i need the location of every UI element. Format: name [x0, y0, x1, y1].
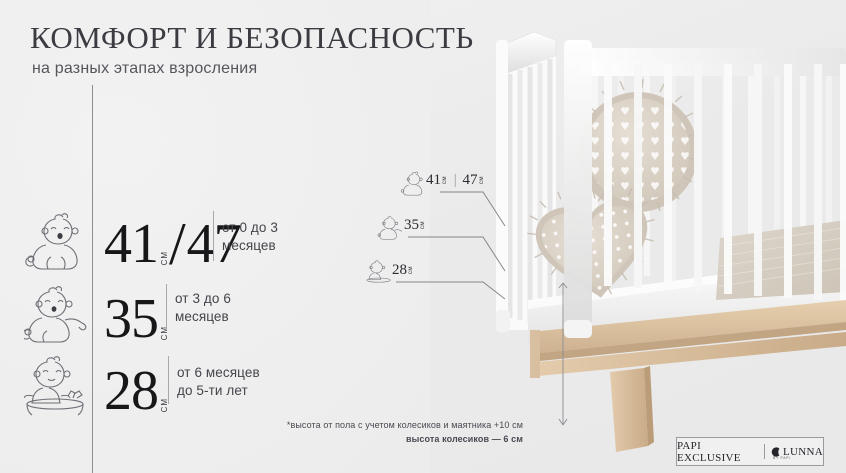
logo-brand-sub: BY PAPI: [773, 456, 791, 460]
callout-divider: |: [454, 172, 457, 188]
callout-unit-b: см: [479, 176, 485, 184]
spec-unit-a: см: [160, 251, 169, 265]
footnote-line1: *высота от пола с учетом колесиков и мая…: [223, 419, 523, 433]
callout-unit-a: см: [442, 176, 448, 184]
floor-height-dimension-line: [556, 282, 570, 432]
spec-description: от 3 до 6 месяцев: [175, 290, 275, 326]
row-separator: [213, 211, 214, 261]
spec-row: 41 см / 47 от 0 до 3 месяцев: [0, 205, 300, 280]
spec-desc-line2: до 5-ти лет: [177, 382, 297, 400]
callout-value-a: 28: [392, 262, 407, 278]
callout-text: 28см: [392, 262, 414, 279]
logo-divider: [764, 444, 765, 459]
spec-value: 28 см: [104, 352, 169, 418]
spec-slash: /: [169, 217, 186, 271]
spec-desc-line1: от 6 месяцев: [177, 364, 297, 382]
spec-row: 28 см от 6 месяцев до 5-ти лет: [0, 352, 300, 427]
logo-papi-exclusive: PAPI EXCLUSIVE: [677, 440, 758, 464]
spec-desc-line1: от 0 до 3: [222, 219, 314, 237]
row-separator: [168, 356, 169, 404]
spec-desc-line2: месяцев: [222, 237, 314, 255]
callout-unit-a: см: [408, 266, 414, 274]
baby-sitting-icon: [364, 260, 394, 286]
spec-desc-line1: от 3 до 6: [175, 290, 275, 308]
callout-text: 41см | 47см: [426, 172, 485, 189]
infographic-canvas: КОМФОРТ И БЕЗОПАСНОСТЬ на разных этапах …: [0, 0, 846, 473]
spec-value: 41 см / 47: [104, 205, 241, 271]
page-title: КОМФОРТ И БЕЗОПАСНОСТЬ: [30, 22, 460, 55]
spec-unit-a: см: [160, 326, 169, 340]
callout-unit-a: см: [420, 221, 426, 229]
brand-logo[interactable]: PAPI EXCLUSIVE LUNNA BY PAPI: [676, 437, 824, 466]
callout-value-a: 35: [404, 217, 419, 233]
spec-row: 35 см от 3 до 6 месяцев: [0, 280, 300, 352]
page-subtitle: на разных этапах взросления: [32, 60, 460, 78]
spec-desc-line2: месяцев: [175, 308, 275, 326]
row-separator: [166, 284, 167, 330]
baby-sitting-icon: [24, 356, 88, 418]
callout-value-a: 41: [426, 172, 441, 188]
spec-description: от 6 месяцев до 5-ти лет: [177, 364, 297, 400]
baby-crawling-icon: [24, 209, 88, 271]
headline-block: КОМФОРТ И БЕЗОПАСНОСТЬ на разных этапах …: [30, 22, 460, 78]
baby-reaching-icon: [376, 215, 406, 241]
baby-crawling-icon: [398, 170, 428, 196]
spec-list: 41 см / 47 от 0 до 3 месяцев: [0, 205, 300, 427]
spec-value-a: 35: [104, 293, 158, 346]
callout-text: 35см: [404, 217, 426, 234]
footnote: *высота от пола с учетом колесиков и мая…: [223, 419, 523, 446]
spec-description: от 0 до 3 месяцев: [222, 219, 314, 255]
spec-value: 35 см: [104, 280, 169, 346]
spec-value-a: 28: [104, 365, 158, 418]
spec-value-a: 41: [104, 218, 158, 271]
footnote-line2: высота колесиков — 6 см: [223, 433, 523, 447]
callout-value-b: 47: [463, 172, 478, 188]
baby-reaching-icon: [24, 284, 88, 346]
